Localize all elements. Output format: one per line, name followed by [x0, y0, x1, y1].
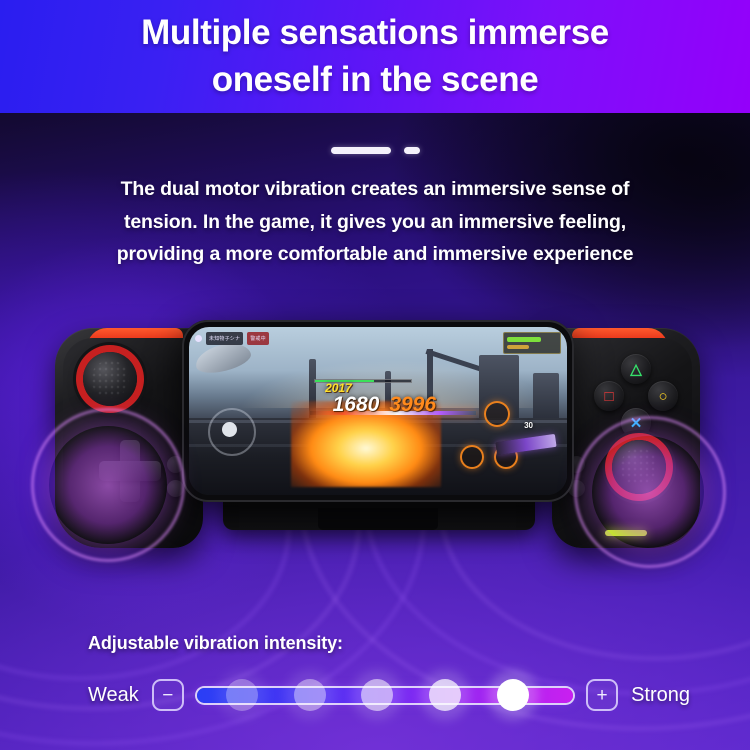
- hud-player-chip: 未知物子シナ: [206, 332, 243, 345]
- ammo-counter: 30: [524, 421, 533, 430]
- action-button-cluster: △ □ ○ ✕: [594, 354, 678, 438]
- dpad[interactable]: [99, 440, 161, 502]
- weak-label: Weak: [88, 684, 139, 707]
- decorative-divider: [0, 147, 750, 154]
- game-minimap: [503, 332, 561, 354]
- hud-alert-label: 警戒中: [250, 335, 266, 342]
- content-stage: The dual motor vibration creates an imme…: [0, 113, 750, 750]
- left-stick-texture: [91, 360, 129, 398]
- virtual-joystick[interactable]: [208, 408, 256, 456]
- paragraph-line-3: providing a more comfortable and immersi…: [66, 238, 684, 271]
- intensity-slider-track[interactable]: [197, 688, 573, 703]
- game-screen: 2017 1680 3996 未知物子シナ 警戒中: [189, 327, 567, 495]
- hud-player-label: 未知物子シナ: [209, 335, 240, 342]
- header-banner: Multiple sensations immerse oneself in t…: [0, 0, 750, 113]
- controller-left-grip: [55, 328, 203, 548]
- virtual-joystick-knob[interactable]: [222, 422, 237, 437]
- intensity-level-dot-2[interactable]: [294, 679, 326, 711]
- minimap-bar-1: [507, 337, 541, 342]
- left-small-button-2[interactable]: [167, 480, 184, 497]
- strong-label: Strong: [631, 684, 690, 707]
- divider-dash-short: [404, 147, 420, 154]
- damage-number-white: 1680: [333, 394, 380, 415]
- decrease-intensity-button[interactable]: −: [152, 679, 184, 711]
- paragraph-line-2: tension. In the game, it gives you an im…: [66, 206, 684, 239]
- game-hud-top-left: 未知物子シナ 警戒中: [195, 332, 269, 345]
- right-stick-texture: [620, 448, 658, 486]
- square-button[interactable]: □: [594, 381, 624, 411]
- header-title-line-1: Multiple sensations immerse: [141, 10, 609, 57]
- hud-alert-chip: 警戒中: [247, 332, 269, 345]
- cross-button[interactable]: ✕: [621, 408, 651, 438]
- intensity-level-dot-1[interactable]: [226, 679, 258, 711]
- triangle-button[interactable]: △: [621, 354, 651, 384]
- slider-section-title: Adjustable vibration intensity:: [88, 633, 750, 654]
- intensity-track-wrap[interactable]: [197, 678, 573, 712]
- intensity-slider-row: Weak − + Strong: [0, 678, 750, 712]
- intensity-level-dot-4[interactable]: [429, 679, 461, 711]
- divider-dash-long: [331, 147, 391, 154]
- intensity-level-dot-3[interactable]: [361, 679, 393, 711]
- damage-number-orange: 3996: [389, 394, 436, 415]
- vibration-intensity-section: Adjustable vibration intensity: Weak − +…: [0, 633, 750, 712]
- increase-intensity-button[interactable]: +: [586, 679, 618, 711]
- intensity-level-dot-5[interactable]: [497, 679, 529, 711]
- product-image-gamepad: △ □ ○ ✕: [55, 328, 700, 588]
- status-led-indicator: [605, 530, 647, 536]
- right-analog-stick[interactable]: [612, 440, 666, 494]
- smartphone: 2017 1680 3996 未知物子シナ 警戒中: [182, 320, 574, 502]
- circle-button[interactable]: ○: [648, 381, 678, 411]
- minimap-bar-2: [507, 345, 529, 349]
- game-action-button-2[interactable]: [460, 445, 484, 469]
- controller-right-grip: △ □ ○ ✕: [552, 328, 700, 548]
- left-analog-stick[interactable]: [83, 352, 137, 406]
- hud-avatar-icon: [195, 335, 202, 342]
- description-paragraph: The dual motor vibration creates an imme…: [0, 173, 750, 271]
- bridge-notch: [318, 508, 438, 530]
- paragraph-line-1: The dual motor vibration creates an imme…: [66, 173, 684, 206]
- header-title-line-2: oneself in the scene: [212, 57, 539, 104]
